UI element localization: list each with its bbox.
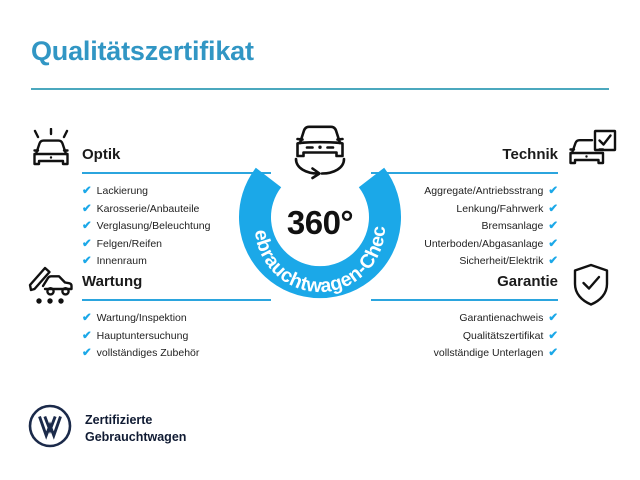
car-rotation-icon <box>274 116 366 189</box>
list-item-label: Innenraum <box>97 253 147 271</box>
360-check-badge: Gebrauchtwagen-Check 360° <box>231 138 409 316</box>
check-icon: ✔ <box>82 183 92 201</box>
footer-line-1: Zertifizierte <box>85 412 186 429</box>
check-icon: ✔ <box>548 218 558 236</box>
list-item-label: Lenkung/Fahrwerk <box>456 201 543 219</box>
checklist-wartung: ✔ Wartung/Inspektion ✔ Hauptuntersuchung… <box>82 310 292 363</box>
footer-brand: Zertifizierte Gebrauchtwagen <box>28 404 186 453</box>
list-item-label: Sicherheit/Elektrik <box>459 253 543 271</box>
car-sparkle-icon <box>25 128 77 177</box>
certificate-page: Qualitätszertifikat <box>0 0 640 480</box>
check-icon: ✔ <box>548 183 558 201</box>
check-icon: ✔ <box>548 328 558 346</box>
check-icon: ✔ <box>548 345 558 363</box>
check-icon: ✔ <box>82 218 92 236</box>
footer-text: Zertifizierte Gebrauchtwagen <box>85 412 186 446</box>
check-icon: ✔ <box>548 236 558 254</box>
shield-check-icon <box>570 262 612 313</box>
check-icon: ✔ <box>548 253 558 271</box>
list-item: vollständige Unterlagen ✔ <box>313 345 558 363</box>
check-icon: ✔ <box>548 310 558 328</box>
list-item-label: Qualitätszertifikat <box>463 328 544 346</box>
list-item-label: Felgen/Reifen <box>97 236 162 254</box>
list-item-label: Unterboden/Abgasanlage <box>424 236 543 254</box>
volkswagen-logo <box>28 404 72 453</box>
footer-line-2: Gebrauchtwagen <box>85 429 186 446</box>
check-icon: ✔ <box>548 201 558 219</box>
car-checkbox-icon <box>562 128 618 177</box>
check-icon: ✔ <box>82 253 92 271</box>
check-icon: ✔ <box>82 345 92 363</box>
check-icon: ✔ <box>82 310 92 328</box>
list-item-label: Lackierung <box>97 183 148 201</box>
list-item-label: Hauptuntersuchung <box>97 328 189 346</box>
checklist-garantie: Garantienachweis ✔ Qualitätszertifikat ✔… <box>313 310 558 363</box>
list-item-label: vollständige Unterlagen <box>434 345 544 363</box>
list-item-label: vollständiges Zubehör <box>97 345 200 363</box>
page-title: Qualitätszertifikat <box>31 36 254 67</box>
check-icon: ✔ <box>82 328 92 346</box>
check-icon: ✔ <box>82 236 92 254</box>
check-icon: ✔ <box>82 201 92 219</box>
list-item-label: Bremsanlage <box>481 218 543 236</box>
list-item-label: Wartung/Inspektion <box>97 310 187 328</box>
title-divider <box>31 88 609 90</box>
list-item: ✔ vollständiges Zubehör <box>82 345 292 363</box>
service-record-icon <box>25 262 77 311</box>
list-item-label: Garantienachweis <box>459 310 543 328</box>
list-item-label: Verglasung/Beleuchtung <box>97 218 211 236</box>
list-item: ✔ Hauptuntersuchung <box>82 328 292 346</box>
list-item: Qualitätszertifikat ✔ <box>313 328 558 346</box>
list-item-label: Karosserie/Anbauteile <box>97 201 200 219</box>
list-item-label: Aggregate/Antriebsstrang <box>424 183 543 201</box>
